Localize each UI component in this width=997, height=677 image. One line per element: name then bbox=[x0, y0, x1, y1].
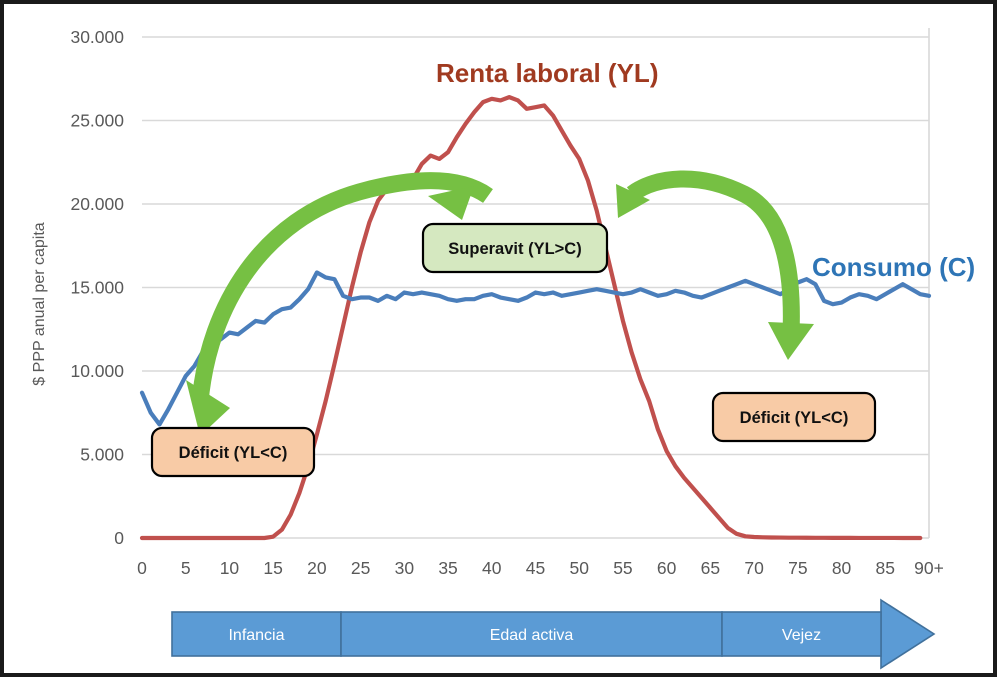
callout-deficit-left: Déficit (YL<C) bbox=[152, 428, 314, 476]
chart-svg: 30.00025.00020.00015.00010.0005.0000 051… bbox=[4, 4, 997, 601]
x-tick-label: 70 bbox=[744, 558, 764, 578]
figure-container: 30.00025.00020.00015.00010.0005.0000 051… bbox=[0, 0, 997, 677]
series-label-renta-laboral: Renta laboral (YL) bbox=[436, 58, 658, 88]
x-tick-label: 65 bbox=[701, 558, 720, 578]
x-tick-label: 60 bbox=[657, 558, 677, 578]
callout-superavit: Superavit (YL>C) bbox=[423, 224, 607, 272]
series-label-consumo: Consumo (C) bbox=[812, 252, 975, 282]
life-stage-label: Infancia bbox=[228, 627, 284, 644]
x-tick-label: 55 bbox=[613, 558, 632, 578]
x-tick-label: 5 bbox=[181, 558, 191, 578]
x-tick-label: 25 bbox=[351, 558, 370, 578]
y-tick-label: 10.000 bbox=[70, 361, 124, 381]
x-tick-label: 20 bbox=[307, 558, 327, 578]
x-tick-labels-group: 051015202530354045505560657075808590+ bbox=[137, 558, 944, 578]
x-tick-label: 45 bbox=[526, 558, 545, 578]
x-tick-label: 80 bbox=[832, 558, 852, 578]
callout-deficit-right-label: Déficit (YL<C) bbox=[740, 409, 849, 427]
callout-superavit-label: Superavit (YL>C) bbox=[448, 240, 581, 258]
y-tick-label: 25.000 bbox=[70, 111, 124, 131]
y-axis-title: $ PPP anual per capita bbox=[31, 222, 48, 385]
x-tick-label: 10 bbox=[220, 558, 240, 578]
arrow-right-to-deficit-shaft bbox=[632, 179, 791, 334]
life-stage-label: Vejez bbox=[782, 627, 821, 644]
x-tick-label: 90+ bbox=[914, 558, 944, 578]
life-stage-svg: InfanciaEdad activaVejez bbox=[4, 596, 997, 677]
y-tick-labels-group: 30.00025.00020.00015.00010.0005.0000 bbox=[70, 27, 124, 548]
x-tick-label: 40 bbox=[482, 558, 502, 578]
life-stage-segments: InfanciaEdad activaVejez bbox=[172, 600, 934, 668]
x-tick-label: 75 bbox=[788, 558, 807, 578]
x-tick-label: 15 bbox=[263, 558, 282, 578]
callout-deficit-left-label: Déficit (YL<C) bbox=[179, 444, 288, 462]
life-stage-arrow-bar: InfanciaEdad activaVejez bbox=[4, 596, 997, 677]
x-tick-label: 35 bbox=[438, 558, 457, 578]
arrow-left-to-surplus-shaft bbox=[200, 181, 488, 402]
y-tick-label: 20.000 bbox=[70, 194, 124, 214]
life-stage-arrowhead bbox=[881, 600, 934, 668]
y-tick-label: 0 bbox=[114, 528, 124, 548]
x-tick-label: 85 bbox=[876, 558, 895, 578]
x-tick-label: 30 bbox=[395, 558, 415, 578]
x-tick-label: 0 bbox=[137, 558, 147, 578]
arrow-surplus-head-left bbox=[428, 186, 474, 220]
y-tick-label: 15.000 bbox=[70, 278, 124, 298]
x-tick-label: 50 bbox=[569, 558, 589, 578]
arrow-right-head bbox=[768, 322, 814, 360]
y-tick-label: 30.000 bbox=[70, 27, 124, 47]
y-tick-label: 5.000 bbox=[80, 445, 124, 465]
callout-deficit-right: Déficit (YL<C) bbox=[713, 393, 875, 441]
life-stage-label: Edad activa bbox=[490, 627, 574, 644]
chart-plot-area: 30.00025.00020.00015.00010.0005.0000 051… bbox=[4, 4, 997, 601]
